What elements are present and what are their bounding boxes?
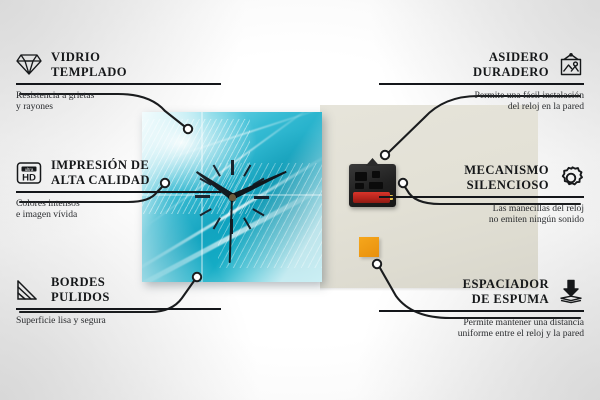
- feature-description: Resistencia a grietas y rayones: [16, 90, 221, 113]
- feature-description: Las manecillas del reloj no emiten ningú…: [379, 203, 584, 226]
- feature-title: VIDRIO TEMPLADO: [51, 50, 127, 79]
- feature-title: BORDES PULIDOS: [51, 275, 110, 304]
- feature-title: ASIDERO DURADERO: [473, 50, 549, 79]
- feature-divider: [16, 308, 221, 310]
- arrow-onto-layers-icon: [558, 279, 584, 305]
- feature-description: Colores intensos e imagen vívida: [16, 198, 221, 221]
- feature-vidrio-templado: VIDRIO TEMPLADO Resistencia a grietas y …: [16, 50, 221, 113]
- feature-divider: [16, 83, 221, 85]
- hanging-frame-icon: [558, 52, 584, 78]
- feature-divider: [379, 310, 584, 312]
- feature-divider: [16, 191, 221, 193]
- feature-divider: [379, 196, 584, 198]
- badge-hd-text: HD: [22, 172, 36, 183]
- feature-bordes-pulidos: BORDES PULIDOS Superficie lisa y segura: [16, 275, 221, 326]
- polished-edges-icon: [16, 277, 42, 303]
- feature-impresion-alta-calidad: ultra HD IMPRESIÓN DE ALTA CALIDAD Color…: [16, 158, 221, 221]
- feature-mecanismo-silencioso: MECANISMO SILENCIOSO Las manecillas del …: [379, 163, 584, 226]
- feature-description: Permite una fácil instalación del reloj …: [379, 90, 584, 113]
- diamond-icon: [16, 52, 42, 78]
- ultra-hd-badge-icon: ultra HD: [16, 160, 42, 186]
- feature-asidero-duradero: ASIDERO DURADERO Permite una fácil insta…: [379, 50, 584, 113]
- foam-spacer: [359, 237, 379, 257]
- mechanism-slot: [355, 183, 364, 189]
- infographic-canvas: VIDRIO TEMPLADO Resistencia a grietas y …: [0, 0, 600, 400]
- badge-ultra-text: ultra: [25, 166, 34, 171]
- feature-title: ESPACIADOR DE ESPUMA: [463, 277, 549, 306]
- gear-icon: [558, 165, 584, 191]
- feature-title: IMPRESIÓN DE ALTA CALIDAD: [51, 158, 150, 187]
- feature-description: Permite mantener una distancia uniforme …: [379, 317, 584, 340]
- feature-description: Superficie lisa y segura: [16, 315, 221, 326]
- feature-espaciador-de-espuma: ESPACIADOR DE ESPUMA Permite mantener un…: [379, 277, 584, 340]
- feature-title: MECANISMO SILENCIOSO: [464, 163, 549, 192]
- feature-divider: [379, 83, 584, 85]
- mechanism-slot: [355, 172, 367, 181]
